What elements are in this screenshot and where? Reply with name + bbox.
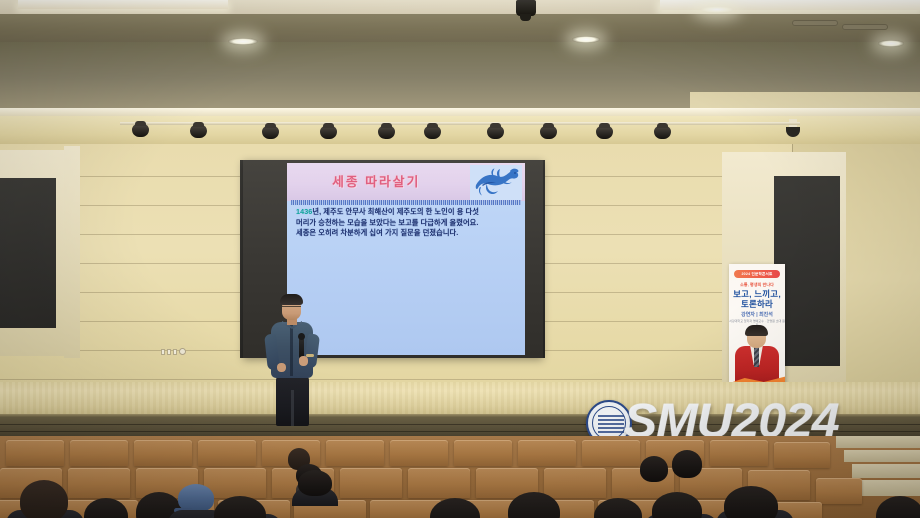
stage-spotlight: [378, 126, 395, 139]
seat: [326, 440, 384, 466]
acoustic-panel: [0, 178, 56, 328]
seat: [408, 468, 470, 498]
stage-spotlight: [190, 125, 207, 138]
slide-line-1: 년, 제주도 안무사 최해산이 제주도의 한 노인이 용 다섯: [312, 207, 479, 216]
ceiling-downlight: [228, 38, 258, 45]
audience-head: [876, 496, 920, 518]
ceiling-downlight: [572, 36, 600, 43]
seat: [816, 478, 862, 504]
stage-spotlight: [596, 126, 613, 139]
lecture-hall-photo: 세종 따라살기 1436년, 제주도 안무사 최해산이 제주도의 한 노인이 용…: [0, 0, 920, 518]
audience-head: [298, 470, 332, 496]
seat: [582, 440, 640, 466]
seat: [518, 440, 576, 466]
seat: [454, 440, 512, 466]
banner-headline-2: 토론하라: [729, 298, 785, 310]
dragon-illustration: [470, 165, 522, 200]
lighting-track: [120, 122, 800, 125]
presentation-slide: 세종 따라살기 1436년, 제주도 안무사 최해산이 제주도의 한 노인이 용…: [287, 163, 525, 355]
seat: [340, 468, 402, 498]
ac-vent: [792, 20, 838, 26]
stage-floor: [0, 382, 920, 416]
seat: [134, 440, 192, 466]
seat: [774, 442, 830, 468]
aisle-step: [858, 480, 920, 496]
aisle-step: [844, 450, 920, 462]
glasses-icon: [282, 306, 301, 310]
stage-spotlight: [320, 126, 337, 139]
seat: [710, 440, 768, 466]
banner-tag: 2024 인문학콘서트: [734, 270, 780, 278]
audience-head: [672, 450, 702, 478]
stage-spotlight: [540, 126, 557, 139]
seat: [544, 468, 606, 498]
slide-year: 1436: [296, 207, 312, 216]
slide-line-3: 세종은 오히려 차분하게 십여 가지 질문을 던졌습니다.: [296, 228, 520, 239]
auditorium-seating: [0, 436, 920, 518]
seat: [6, 440, 64, 466]
ceiling-downlight: [878, 40, 904, 47]
banner-speaker-name: 강연자 | 최진석: [729, 311, 785, 318]
acoustic-panel-frame: [64, 146, 80, 358]
banner-portrait: [733, 327, 781, 385]
slide-divider: [291, 200, 521, 205]
stage-spotlight: [132, 124, 149, 137]
ceiling-projector: [516, 0, 536, 16]
ceiling-light-strip-right: [660, 0, 920, 10]
slide-body-text: 1436년, 제주도 안무사 최해산이 제주도의 한 노인이 용 다섯 머리가 …: [296, 207, 520, 239]
slide-title: 세종 따라살기: [332, 171, 420, 190]
presenter: [266, 294, 318, 426]
audience-head-with-cap: [178, 484, 214, 512]
ac-vent: [842, 24, 888, 30]
seat: [390, 440, 448, 466]
slide-line-2: 머리가 승천하는 모습을 보았다는 보고를 다급하게 올렸어요.: [296, 218, 520, 229]
seat: [198, 440, 256, 466]
stage-spotlight: [262, 126, 279, 139]
ceiling-light-strip-left: [18, 0, 228, 9]
wall-switch-panel[interactable]: [161, 348, 186, 355]
stage-spotlight: [487, 126, 504, 139]
aisle-step: [836, 436, 920, 448]
audience-head: [640, 456, 668, 482]
seat: [70, 440, 128, 466]
audience-head: [724, 486, 778, 518]
stage-spotlight: [424, 126, 441, 139]
seat: [68, 468, 130, 498]
audience-head: [20, 480, 68, 518]
ceiling-downlight: [700, 6, 734, 13]
aisle-step: [852, 464, 920, 478]
stage-spotlight: [654, 126, 671, 139]
